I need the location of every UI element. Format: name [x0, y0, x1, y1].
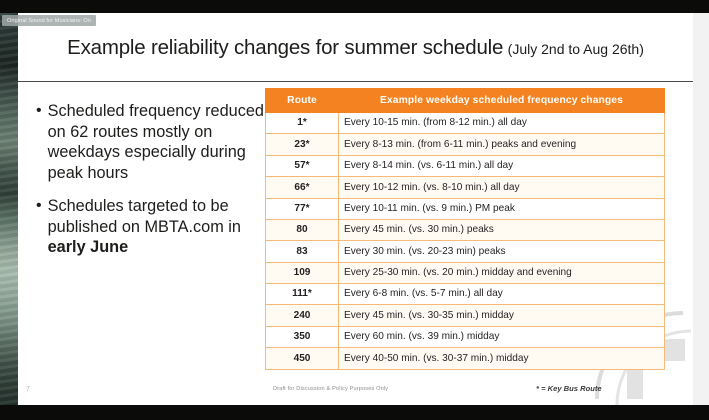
- cell-route: 77*: [266, 198, 339, 219]
- footer-legend: * = Key Bus Route: [536, 384, 602, 393]
- slide-title-sub: (July 2nd to Aug 26th): [508, 41, 644, 57]
- bullet-dot-icon: •: [36, 101, 42, 121]
- cell-route: 450: [266, 348, 339, 369]
- letterbox-bottom: [0, 405, 709, 420]
- cell-route: 83: [266, 241, 339, 262]
- title-divider: [18, 81, 693, 82]
- table-header-row: Route Example weekday scheduled frequenc…: [266, 89, 665, 113]
- table-row: 83Every 30 min. (vs. 20-23 min) peaks: [266, 241, 665, 262]
- cell-change: Every 60 min. (vs. 39 min.) midday: [339, 326, 665, 347]
- cell-change: Every 25-30 min. (vs. 20 min.) midday an…: [339, 262, 665, 283]
- original-sound-badge: Original Sound for Musicians: On: [2, 15, 96, 26]
- bullet-text-emphasis: early June: [48, 238, 129, 256]
- table-row: 77*Every 10-11 min. (vs. 9 min.) PM peak: [266, 198, 665, 219]
- frequency-changes-table: Route Example weekday scheduled frequenc…: [265, 88, 665, 370]
- cell-change: Every 10-12 min. (vs. 8-10 min.) all day: [339, 177, 665, 198]
- cell-route: 23*: [266, 134, 339, 155]
- cell-change: Every 40-50 min. (vs. 30-37 min.) midday: [339, 348, 665, 369]
- table-body: 1*Every 10-15 min. (from 8-12 min.) all …: [266, 113, 665, 370]
- cell-route: 240: [266, 305, 339, 326]
- table-row: 23*Every 8-13 min. (from 6-11 min.) peak…: [266, 134, 665, 155]
- cell-change: Every 45 min. (vs. 30 min.) peaks: [339, 219, 665, 240]
- cell-change: Every 10-11 min. (vs. 9 min.) PM peak: [339, 198, 665, 219]
- participant-video-strip: [0, 13, 18, 405]
- column-header-changes: Example weekday scheduled frequency chan…: [339, 89, 665, 113]
- bullet-text-plain: Schedules targeted to be published on MB…: [48, 197, 241, 236]
- table-row: 111*Every 6-8 min. (vs. 5-7 min.) all da…: [266, 284, 665, 305]
- list-item: • Scheduled frequency reduced on 62 rout…: [36, 101, 271, 183]
- table-row: 1*Every 10-15 min. (from 8-12 min.) all …: [266, 113, 665, 134]
- cell-route: 350: [266, 326, 339, 347]
- cell-change: Every 8-14 min. (vs. 6-11 min.) all day: [339, 155, 665, 176]
- cell-change: Every 8-13 min. (from 6-11 min.) peaks a…: [339, 134, 665, 155]
- footer-disclaimer: Draft for Discussion & Policy Purposes O…: [273, 386, 388, 392]
- list-item: • Schedules targeted to be published on …: [36, 196, 271, 258]
- cell-change: Every 10-15 min. (from 8-12 min.) all da…: [339, 113, 665, 134]
- cell-route: 80: [266, 219, 339, 240]
- table-row: 57*Every 8-14 min. (vs. 6-11 min.) all d…: [266, 155, 665, 176]
- bullet-list: • Scheduled frequency reduced on 62 rout…: [36, 101, 271, 271]
- zoom-screen-share-view: Original Sound for Musicians: On Example…: [0, 0, 709, 420]
- table-row: 66*Every 10-12 min. (vs. 8-10 min.) all …: [266, 177, 665, 198]
- cell-change: Every 45 min. (vs. 30-35 min.) midday: [339, 305, 665, 326]
- slide-title-main: Example reliability changes for summer s…: [67, 36, 503, 59]
- bullet-dot-icon: •: [36, 196, 42, 216]
- table-row: 350Every 60 min. (vs. 39 min.) midday: [266, 326, 665, 347]
- slide-title: Example reliability changes for summer s…: [18, 35, 693, 60]
- table-row: 240Every 45 min. (vs. 30-35 min.) midday: [266, 305, 665, 326]
- table-row: 80Every 45 min. (vs. 30 min.) peaks: [266, 219, 665, 240]
- page-number: 7: [26, 386, 30, 393]
- right-gutter: [693, 13, 709, 405]
- table-row: 450Every 40-50 min. (vs. 30-37 min.) mid…: [266, 348, 665, 369]
- table-row: 109Every 25-30 min. (vs. 20 min.) midday…: [266, 262, 665, 283]
- cell-route: 66*: [266, 177, 339, 198]
- bullet-text: Schedules targeted to be published on MB…: [48, 196, 271, 258]
- cell-change: Every 6-8 min. (vs. 5-7 min.) all day: [339, 284, 665, 305]
- cell-route: 109: [266, 262, 339, 283]
- cell-route: 57*: [266, 155, 339, 176]
- letterbox-top: [0, 0, 709, 12]
- presentation-slide: Example reliability changes for summer s…: [18, 13, 693, 405]
- bullet-text: Scheduled frequency reduced on 62 routes…: [48, 101, 271, 183]
- column-header-route: Route: [266, 89, 339, 113]
- cell-route: 111*: [266, 284, 339, 305]
- cell-change: Every 30 min. (vs. 20-23 min) peaks: [339, 241, 665, 262]
- cell-route: 1*: [266, 113, 339, 134]
